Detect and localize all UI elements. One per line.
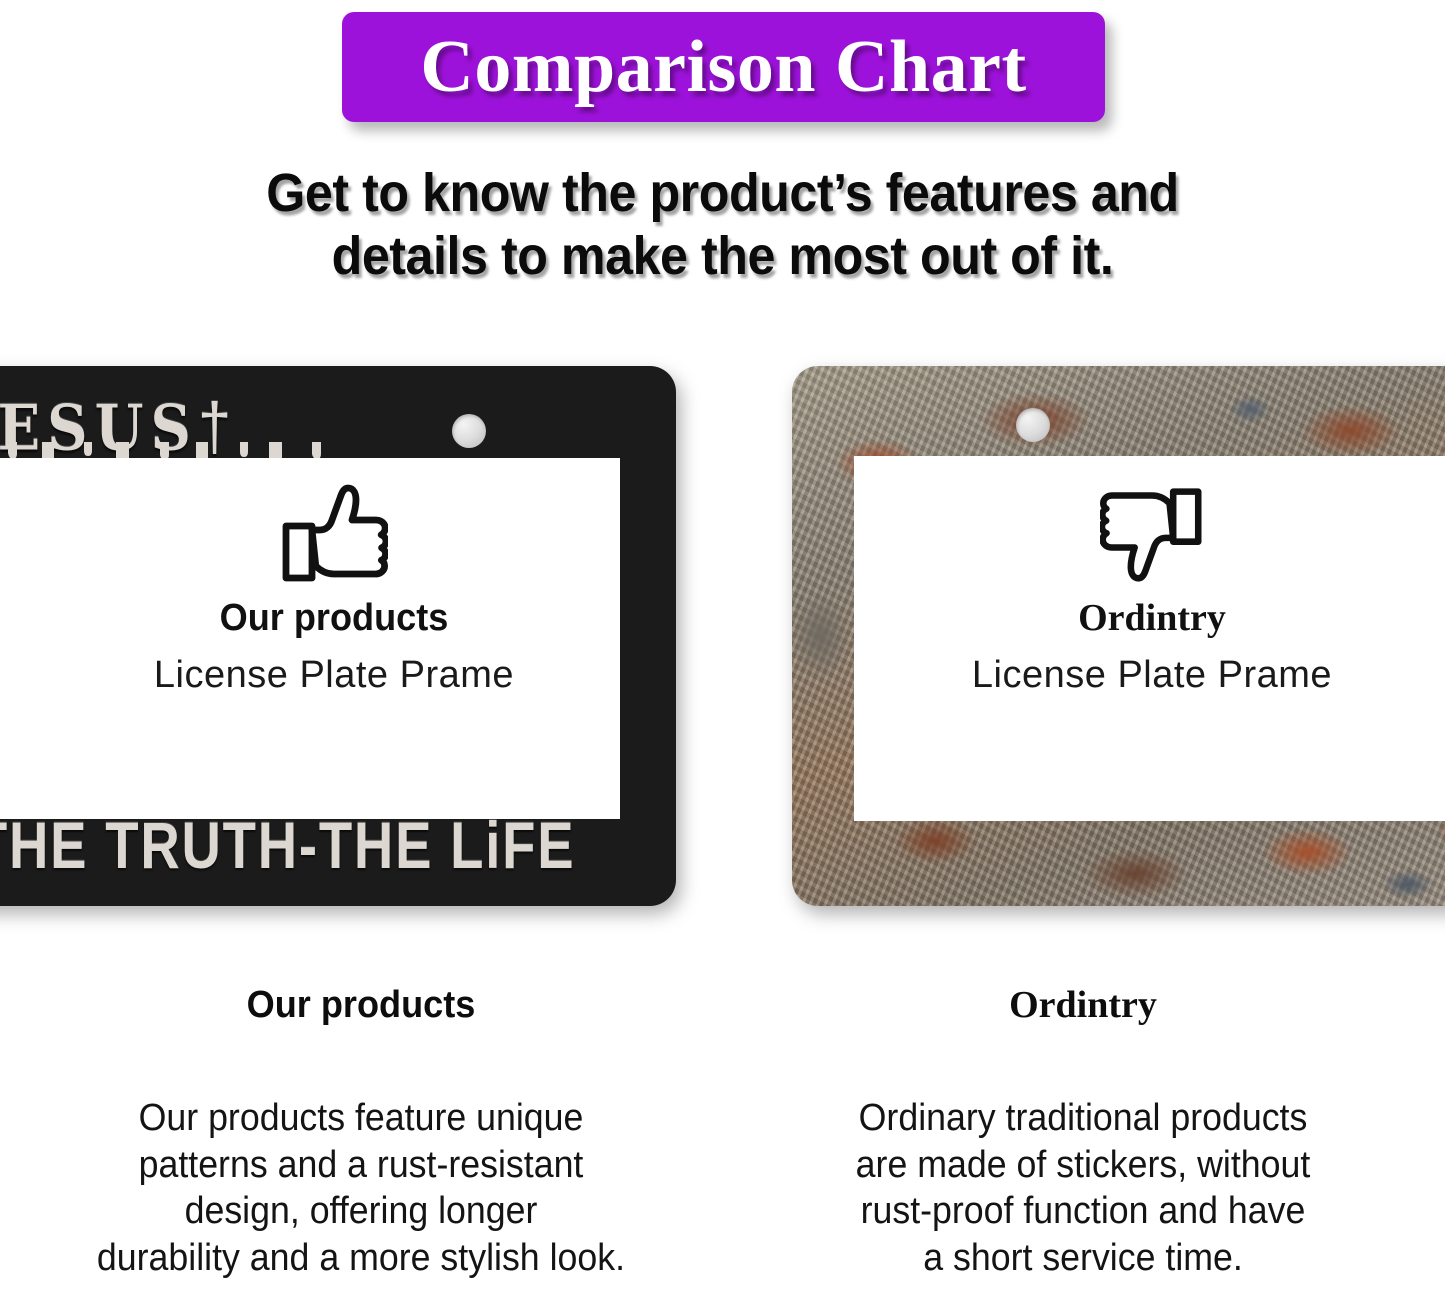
subtitle-line-1: Get to know the product’s features and [51,162,1395,225]
mounting-hole [1016,408,1050,442]
subtitle-line-2: details to make the most out of it. [51,225,1395,288]
subtitle: Get to know the product’s features and d… [51,162,1395,287]
window-subtitle-ours: License Plate Prame [0,654,676,698]
column-body-line: Ordinary traditional products [776,1095,1391,1142]
plate-window-content-ours: Our products License Plate Prame [0,482,676,697]
column-heading-ours: Our products [18,985,704,1027]
product-frame-ordinary: Ordintry License Plate Prame [792,352,1445,917]
column-body-line: are made of stickers, without [776,1142,1391,1189]
column-body-ours: Our products feature unique patterns and… [22,1095,701,1282]
product-frames-row: JESUS† [0,352,1445,917]
product-frame-ours: JESUS† [0,352,676,917]
frame-slogan-bottom: -THE TRUTH-THE LiFE [0,809,575,884]
column-body-ordinary: Ordinary traditional products are made o… [744,1095,1423,1282]
column-body-line: a short service time. [776,1235,1391,1282]
comparison-column-ordinary: Ordintry Ordinary traditional products a… [722,985,1444,1314]
column-body-line: design, offering longer [54,1188,669,1235]
window-subtitle-ordinary: License Plate Prame [796,654,1445,698]
column-body-line: durability and a more stylish look. [54,1235,669,1282]
plate-window-content-ordinary: Ordintry License Plate Prame [792,482,1445,697]
column-body-line: patterns and a rust-resistant [54,1142,669,1189]
comparison-columns: Our products Our products feature unique… [0,985,1445,1314]
window-title-ordinary: Ordintry [796,598,1445,640]
thumbs-up-icon [280,482,388,586]
thumbs-down-icon [1100,482,1204,586]
comparison-chart-page: Comparison Chart Get to know the product… [0,0,1445,1314]
page-title: Comparison Chart [420,30,1026,104]
window-title-ours: Our products [9,598,659,640]
column-body-line: rust-proof function and have [776,1188,1391,1235]
column-body-line: Our products feature unique [54,1095,669,1142]
header-banner: Comparison Chart [342,12,1105,122]
column-heading-ordinary: Ordintry [722,985,1444,1027]
comparison-column-ours: Our products Our products feature unique… [0,985,722,1314]
mounting-hole [452,414,486,448]
